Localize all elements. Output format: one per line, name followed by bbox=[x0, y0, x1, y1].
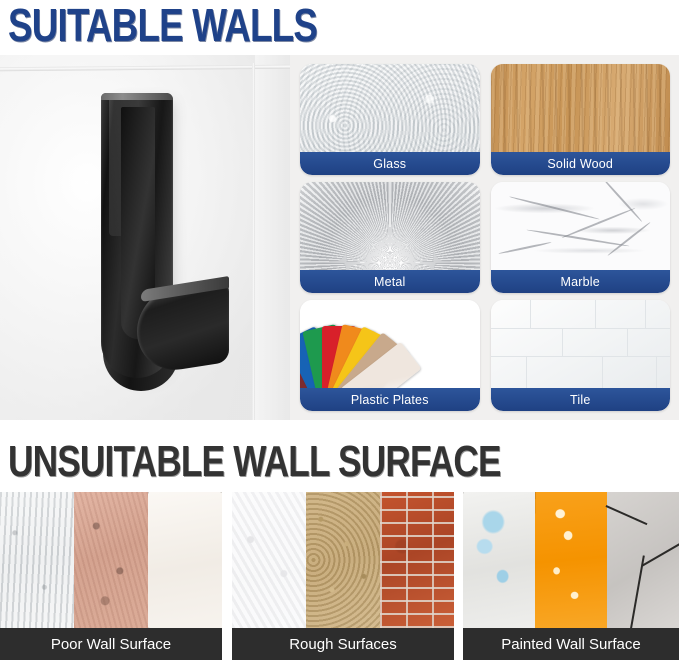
infographic-page: SUITABLE WALLS bbox=[0, 0, 679, 660]
suitable-surface-card-grid: Glass Solid Wood Metal bbox=[290, 55, 679, 420]
product-photo-hook bbox=[0, 55, 290, 420]
unsuitable-wall-surface-heading: UNSUITABLE WALL SURFACE bbox=[8, 440, 501, 484]
strip-gray-cracked-wall bbox=[607, 492, 679, 628]
solid-wood-texture-image bbox=[491, 64, 671, 152]
surface-card-label: Solid Wood bbox=[491, 152, 671, 175]
surface-card-metal: Metal bbox=[300, 182, 480, 293]
unsuitable-panel-rough-surfaces: Rough Surfaces bbox=[232, 492, 454, 660]
marble-texture-image bbox=[491, 182, 671, 270]
surface-card-label: Marble bbox=[491, 270, 671, 293]
surface-card-glass: Glass bbox=[300, 64, 480, 175]
suitable-walls-section: Glass Solid Wood Metal bbox=[0, 55, 679, 420]
tile-texture-image bbox=[491, 300, 671, 388]
surface-card-marble: Marble bbox=[491, 182, 671, 293]
texture-strip-group bbox=[232, 492, 454, 628]
plastic-plates-texture-image bbox=[300, 300, 480, 388]
surface-card-label: Plastic Plates bbox=[300, 388, 480, 411]
strip-white-stucco bbox=[232, 492, 306, 628]
strip-pink-crumbling-render bbox=[74, 492, 148, 628]
strip-red-brick bbox=[380, 492, 454, 628]
texture-strip-group bbox=[463, 492, 679, 628]
panel-label: Painted Wall Surface bbox=[463, 628, 679, 660]
hook-top-edge bbox=[101, 93, 173, 100]
suitable-walls-heading: SUITABLE WALLS bbox=[8, 2, 317, 48]
surface-card-solid-wood: Solid Wood bbox=[491, 64, 671, 175]
wall-tile-shade bbox=[255, 55, 290, 420]
panel-label: Rough Surfaces bbox=[232, 628, 454, 660]
strip-blue-peeling-paint bbox=[463, 492, 535, 628]
strip-cracked-white-wall bbox=[148, 492, 222, 628]
surface-card-label: Tile bbox=[491, 388, 671, 411]
surface-card-label: Metal bbox=[300, 270, 480, 293]
unsuitable-panel-painted-wall-surface: Painted Wall Surface bbox=[463, 492, 679, 660]
panel-label: Poor Wall Surface bbox=[0, 628, 222, 660]
tile-seam-vertical bbox=[252, 63, 255, 420]
strip-orange-chipped-paint bbox=[535, 492, 607, 628]
unsuitable-panel-poor-wall-surface: Poor Wall Surface bbox=[0, 492, 222, 660]
surface-card-label: Glass bbox=[300, 152, 480, 175]
surface-card-plastic-plates: Plastic Plates bbox=[300, 300, 480, 411]
strip-peeling-gray-plaster bbox=[0, 492, 74, 628]
surface-card-tile: Tile bbox=[491, 300, 671, 411]
strip-tan-pebbledash bbox=[306, 492, 380, 628]
glass-texture-image bbox=[300, 64, 480, 152]
hook-product bbox=[97, 93, 229, 390]
texture-strip-group bbox=[0, 492, 222, 628]
unsuitable-wall-section: Poor Wall Surface Rough Surfaces Painted… bbox=[0, 492, 679, 660]
metal-texture-image bbox=[300, 182, 480, 270]
